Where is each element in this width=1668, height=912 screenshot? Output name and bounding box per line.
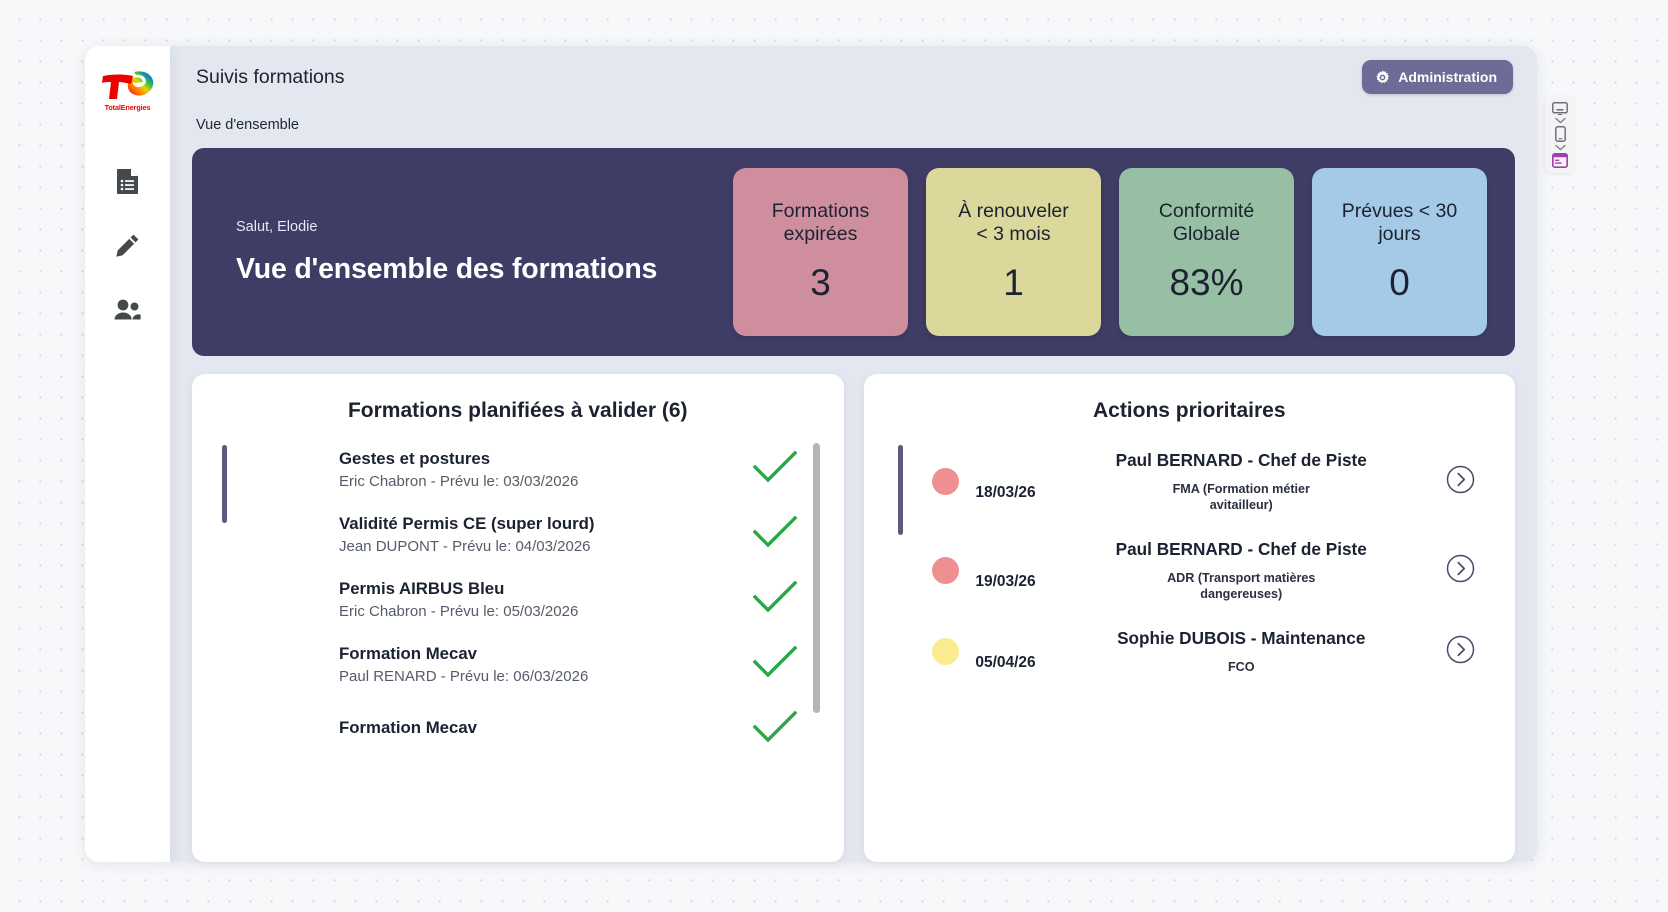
kpi-card[interactable]: Prévues < 30jours0	[1312, 168, 1487, 336]
dashboard-panels: Formations planifiées à valider (6) Gest…	[170, 356, 1537, 862]
kpi-card-row: Formationsexpirées3À renouveler< 3 mois1…	[733, 168, 1491, 336]
status-badge	[932, 557, 959, 584]
training-text-block: Permis AIRBUS BleuEric Chabron - Prévu l…	[339, 579, 742, 620]
training-meta: Eric Chabron - Prévu le: 05/03/2026	[339, 603, 742, 620]
kpi-card-label: À renouveler< 3 mois	[950, 200, 1077, 245]
action-text-block: Paul BERNARD - Chef de PisteFMA (Formati…	[1049, 450, 1435, 513]
action-detail: FMA (Formation métier avitailleur)	[1141, 481, 1341, 513]
mobile-preview-button[interactable]	[1555, 126, 1566, 142]
action-person: Sophie DUBOIS - Maintenance	[1055, 628, 1429, 649]
training-row[interactable]: Validité Permis CE (super lourd)Jean DUP…	[224, 502, 844, 567]
actions-panel-title: Actions prioritaires	[864, 374, 1516, 437]
overview-hero-band: Salut, Elodie Vue d'ensemble des formati…	[192, 148, 1515, 356]
administration-button[interactable]: Administration	[1362, 60, 1513, 94]
training-text-block: Gestes et posturesEric Chabron - Prévu l…	[339, 449, 742, 490]
brand-name: TotalEnergies	[105, 103, 151, 112]
trainings-scrollbar[interactable]	[813, 443, 820, 713]
action-person: Paul BERNARD - Chef de Piste	[1055, 450, 1429, 471]
kpi-label-line2: < 3 mois	[958, 223, 1069, 246]
kpi-label-line2: jours	[1342, 223, 1457, 246]
kpi-card-label: ConformitéGlobale	[1151, 200, 1262, 245]
sidebar: TotalEnergies	[85, 46, 170, 862]
training-meta: Eric Chabron - Prévu le: 03/03/2026	[339, 473, 742, 490]
chevron-down-icon	[1555, 117, 1566, 124]
check-icon[interactable]	[752, 449, 798, 490]
check-icon[interactable]	[752, 644, 798, 685]
app-window: TotalEnergies	[85, 46, 1537, 862]
kpi-card[interactable]: Formationsexpirées3	[733, 168, 908, 336]
action-date: 05/04/26	[963, 654, 1049, 672]
chevron-right-circle-icon[interactable]	[1446, 465, 1475, 499]
status-badge	[932, 468, 959, 495]
breadcrumb[interactable]: Vue d'ensemble	[170, 108, 1537, 142]
check-icon[interactable]	[752, 709, 798, 750]
desktop-preview-button[interactable]	[1552, 102, 1568, 115]
trainings-panel-title: Formations planifiées à valider (6)	[192, 374, 844, 437]
kpi-card-value: 1	[1003, 262, 1024, 304]
kpi-label-line2: expirées	[772, 223, 870, 246]
mobile-icon	[1555, 126, 1566, 142]
training-text-block: Formation MecavPaul RENARD - Prévu le: 0…	[339, 644, 742, 685]
kpi-label-line1: Conformité	[1159, 200, 1254, 223]
check-icon[interactable]	[752, 579, 798, 620]
training-row[interactable]: Permis AIRBUS BleuEric Chabron - Prévu l…	[224, 567, 844, 632]
totalenergies-mark	[100, 68, 156, 102]
kpi-card-value: 0	[1389, 262, 1410, 304]
action-date: 18/03/26	[963, 484, 1049, 502]
kpi-card-value: 3	[810, 262, 831, 304]
greeting-text: Salut, Elodie	[236, 219, 733, 235]
kpi-card[interactable]: ConformitéGlobale83%	[1119, 168, 1294, 336]
check-icon[interactable]	[752, 514, 798, 555]
training-name: Gestes et postures	[339, 449, 742, 469]
topbar: Suivis formations Administration	[170, 46, 1537, 108]
trainings-accent-bar	[222, 445, 227, 523]
training-row[interactable]: Formation Mecav	[224, 697, 844, 762]
trainings-list: Gestes et posturesEric Chabron - Prévu l…	[192, 437, 844, 762]
trainings-panel-body: Gestes et posturesEric Chabron - Prévu l…	[192, 437, 844, 862]
actions-accent-bar	[898, 445, 903, 535]
kpi-card[interactable]: À renouveler< 3 mois1	[926, 168, 1101, 336]
training-name: Permis AIRBUS Bleu	[339, 579, 742, 599]
gear-icon	[1375, 70, 1390, 85]
pencil-icon	[115, 233, 140, 258]
sidebar-item-people[interactable]	[105, 286, 151, 332]
administration-button-label: Administration	[1398, 69, 1497, 85]
document-list-icon	[116, 168, 140, 194]
chevron-down-icon	[1555, 144, 1566, 151]
action-person: Paul BERNARD - Chef de Piste	[1055, 539, 1429, 560]
training-text-block: Validité Permis CE (super lourd)Jean DUP…	[339, 514, 742, 555]
action-row[interactable]: 18/03/26Paul BERNARD - Chef de PisteFMA …	[898, 437, 1516, 526]
desktop-icon	[1552, 102, 1568, 115]
device-preview-toolbar	[1545, 96, 1575, 173]
sidebar-item-documents[interactable]	[105, 158, 151, 204]
kpi-card-label: Formationsexpirées	[764, 200, 878, 245]
actions-list: 18/03/26Paul BERNARD - Chef de PisteFMA …	[864, 437, 1516, 689]
action-text-block: Paul BERNARD - Chef de PisteADR (Transpo…	[1049, 539, 1435, 602]
hero-greeting-block: Salut, Elodie Vue d'ensemble des formati…	[192, 219, 733, 286]
breadcrumb-label: Vue d'ensemble	[196, 117, 299, 133]
kpi-label-line1: Prévues < 30	[1342, 200, 1457, 223]
training-meta: Jean DUPONT - Prévu le: 04/03/2026	[339, 538, 742, 555]
action-detail: ADR (Transport matières dangereuses)	[1141, 570, 1341, 602]
kpi-label-line2: Globale	[1159, 223, 1254, 246]
action-row[interactable]: 19/03/26Paul BERNARD - Chef de PisteADR …	[898, 526, 1516, 615]
mobile-size-dropdown[interactable]	[1555, 144, 1566, 151]
main-content-area: Suivis formations Administration Vue d'e…	[170, 46, 1537, 862]
kpi-card-value: 83%	[1169, 262, 1243, 304]
action-text-block: Sophie DUBOIS - MaintenanceFCO	[1049, 628, 1435, 675]
actions-panel: Actions prioritaires 18/03/26Paul BERNAR…	[864, 374, 1516, 862]
totalenergies-logo: TotalEnergies	[97, 64, 159, 116]
action-detail: FCO	[1141, 659, 1341, 675]
training-meta: Paul RENARD - Prévu le: 06/03/2026	[339, 668, 742, 685]
kpi-card-label: Prévues < 30jours	[1334, 200, 1465, 245]
kpi-label-line1: À renouveler	[958, 200, 1069, 223]
browser-icon	[1552, 153, 1568, 168]
kpi-label-line1: Formations	[772, 200, 870, 223]
chevron-right-circle-icon[interactable]	[1446, 554, 1475, 588]
trainings-panel: Formations planifiées à valider (6) Gest…	[192, 374, 844, 862]
action-row[interactable]: 05/04/26Sophie DUBOIS - MaintenanceFCO	[898, 615, 1516, 688]
hero-title: Vue d'ensemble des formations	[236, 253, 733, 286]
status-badge	[932, 638, 959, 665]
training-row[interactable]: Gestes et posturesEric Chabron - Prévu l…	[224, 437, 844, 502]
desktop-size-dropdown[interactable]	[1555, 117, 1566, 124]
training-name: Validité Permis CE (super lourd)	[339, 514, 742, 534]
training-name: Formation Mecav	[339, 718, 742, 738]
training-name: Formation Mecav	[339, 644, 742, 664]
sidebar-item-edit[interactable]	[105, 222, 151, 268]
page-title: Suivis formations	[196, 66, 344, 89]
browser-preview-button[interactable]	[1552, 153, 1568, 168]
action-date: 19/03/26	[963, 573, 1049, 591]
actions-panel-body: 18/03/26Paul BERNARD - Chef de PisteFMA …	[864, 437, 1516, 862]
training-text-block: Formation Mecav	[339, 718, 742, 742]
chevron-right-circle-icon[interactable]	[1446, 635, 1475, 669]
training-row[interactable]: Formation MecavPaul RENARD - Prévu le: 0…	[224, 632, 844, 697]
people-icon	[114, 299, 141, 320]
